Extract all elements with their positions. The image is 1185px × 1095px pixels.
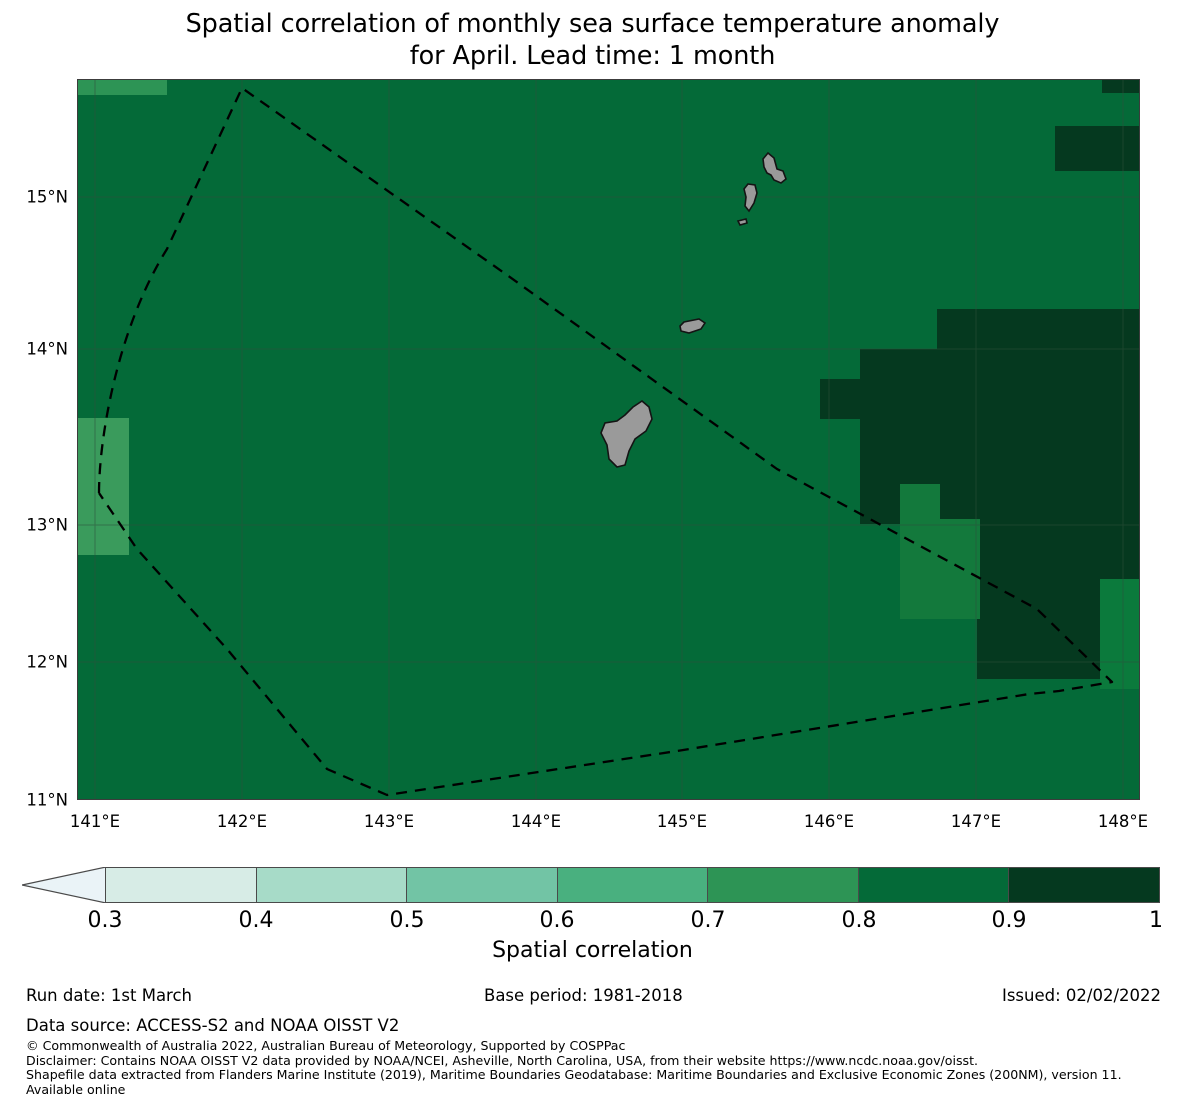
colorbar-tick-label: 0.3 [88, 908, 123, 933]
x-tick-label: 144°E [511, 812, 561, 831]
y-tick-label: 15°N [0, 188, 68, 207]
x-tick-label: 142°E [217, 812, 267, 831]
x-tick-label: 147°E [951, 812, 1001, 831]
chart-title: Spatial correlation of monthly sea surfa… [0, 8, 1185, 72]
colorbar-tick-label: 0.5 [390, 908, 425, 933]
raster-cell [77, 418, 129, 555]
colorbar-band-4[interactable] [708, 868, 859, 902]
x-tick-label: 141°E [70, 812, 120, 831]
colorbar-axis-title: Spatial correlation [0, 938, 1185, 963]
colorbar-tick-label: 0.4 [239, 908, 274, 933]
colorbar-band-3[interactable] [558, 868, 709, 902]
disclaimer-text: © Commonwealth of Australia 2022, Austra… [26, 1039, 1181, 1095]
colorbar-tick-label: 1 [1149, 908, 1163, 933]
colorbar-band-2[interactable] [407, 868, 558, 902]
data-source-text: Data source: ACCESS-S2 and NOAA OISST V2 [26, 1016, 399, 1035]
raster-cell [900, 519, 980, 619]
colorbar[interactable]: 0.3 0.4 0.5 0.6 0.7 0.8 0.9 1 Spatial co… [0, 864, 1185, 964]
x-tick-label: 143°E [364, 812, 414, 831]
y-tick-label: 13°N [0, 516, 68, 535]
raster-cell [900, 484, 940, 524]
colorbar-tick-label: 0.9 [992, 908, 1027, 933]
y-tick-label: 11°N [0, 791, 68, 810]
run-date-text: Run date: 1st March [26, 986, 192, 1005]
colorbar-band-1[interactable] [257, 868, 408, 902]
raster-cell [937, 309, 1140, 349]
colorbar-extend-min-arrow [22, 867, 106, 903]
base-period-text: Base period: 1981-2018 [484, 986, 683, 1005]
x-tick-label: 146°E [804, 812, 854, 831]
heatmap-raster [77, 79, 1140, 800]
x-tick-label: 148°E [1098, 812, 1148, 831]
colorbar-tick-label: 0.8 [842, 908, 877, 933]
colorbar-band-6[interactable] [1009, 868, 1159, 902]
raster-cell [77, 79, 167, 95]
colorbar-band-0[interactable] [106, 868, 257, 902]
y-tick-label: 14°N [0, 340, 68, 359]
island-aguijan [738, 219, 747, 225]
raster-cell [1102, 79, 1140, 93]
raster-cell [1055, 126, 1140, 171]
issued-date-text: Issued: 02/02/2022 [1002, 986, 1161, 1005]
raster-cell [1100, 579, 1140, 689]
x-tick-label: 145°E [657, 812, 707, 831]
colorbar-tick-label: 0.6 [540, 908, 575, 933]
map-plot-area[interactable] [77, 79, 1140, 800]
figure-canvas: Spatial correlation of monthly sea surfa… [0, 0, 1185, 1095]
metadata-row: Run date: 1st March Base period: 1981-20… [0, 986, 1185, 1006]
colorbar-tick-label: 0.7 [691, 908, 726, 933]
colorbar-band-5[interactable] [859, 868, 1010, 902]
y-tick-label: 12°N [0, 653, 68, 672]
colorbar-bands[interactable] [105, 867, 1160, 903]
map-svg [77, 79, 1140, 800]
